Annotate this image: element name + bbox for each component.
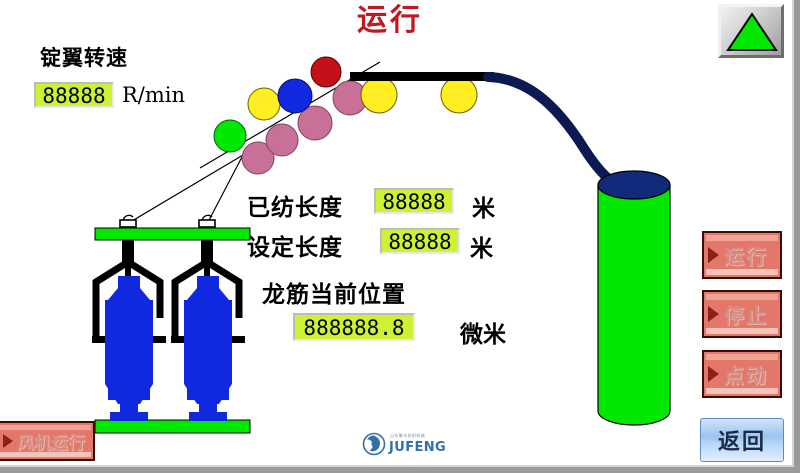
stop-button-label: 停止 (704, 300, 780, 329)
triangle-up-icon (726, 11, 778, 53)
up-triangle-button[interactable] (718, 4, 784, 58)
unit-spun-length: 米 (472, 189, 495, 223)
unit-flyer-speed: R/min (122, 83, 185, 107)
sliver-curve (488, 77, 630, 189)
hmi-screen: 运行 锭翼转速 88888 R/min 已纺长度 88888 米 设定长度 88… (0, 0, 800, 473)
label-lifter-position: 龙筋当前位置 (262, 275, 406, 309)
sliver-can (598, 171, 670, 425)
fan-run-button-label: 风机运行 (11, 429, 91, 454)
roller-yellow-3 (441, 77, 477, 113)
roller-green (214, 120, 246, 152)
fan-run-button[interactable]: 风机运行 (0, 421, 95, 461)
unit-lifter-position: 微米 (460, 315, 506, 349)
label-flyer-speed: 锭翼转速 (40, 42, 128, 72)
jog-button[interactable]: 点动 (702, 350, 782, 398)
bobbin-left (105, 276, 153, 421)
value-flyer-speed[interactable]: 88888 (34, 82, 114, 108)
frame-bottom (0, 467, 800, 473)
value-lifter-position[interactable]: 888888.8 (293, 313, 415, 341)
stop-button[interactable]: 停止 (702, 290, 782, 338)
label-set-length: 设定长度 (247, 228, 343, 262)
return-button[interactable]: 返回 (700, 418, 784, 462)
bobbin-right (184, 276, 232, 421)
frame-right (794, 0, 800, 473)
label-spun-length: 已纺长度 (247, 188, 343, 222)
jufeng-logo: 山东聚丰纺织机械 JUFENG (362, 428, 454, 456)
return-button-label: 返回 (701, 424, 783, 456)
jog-button-label: 点动 (704, 360, 780, 389)
roller-rose-2 (266, 124, 298, 156)
flyer-top-left (120, 215, 136, 227)
flyer-bobbins (92, 215, 250, 433)
value-set-length[interactable]: 88888 (380, 228, 460, 254)
page-title: 运行 (330, 2, 450, 40)
svg-text:山东聚丰纺织机械: 山东聚丰纺织机械 (390, 432, 425, 438)
run-button[interactable]: 运行 (702, 231, 782, 279)
run-button-highlight-bottom (706, 269, 778, 275)
stop-button-highlight-bottom (706, 328, 778, 334)
flyer-top-right (199, 215, 215, 227)
unit-set-length: 米 (470, 229, 493, 263)
svg-text:JUFENG: JUFENG (388, 440, 446, 455)
roller-red (311, 57, 341, 87)
top-black-bar (350, 72, 494, 81)
jog-button-highlight-bottom (706, 388, 778, 394)
value-spun-length[interactable]: 88888 (374, 188, 454, 214)
roller-yellow-2 (361, 77, 397, 113)
roller-yellow-1 (248, 88, 280, 120)
roller-blue (278, 79, 312, 113)
run-button-label: 运行 (704, 241, 780, 270)
